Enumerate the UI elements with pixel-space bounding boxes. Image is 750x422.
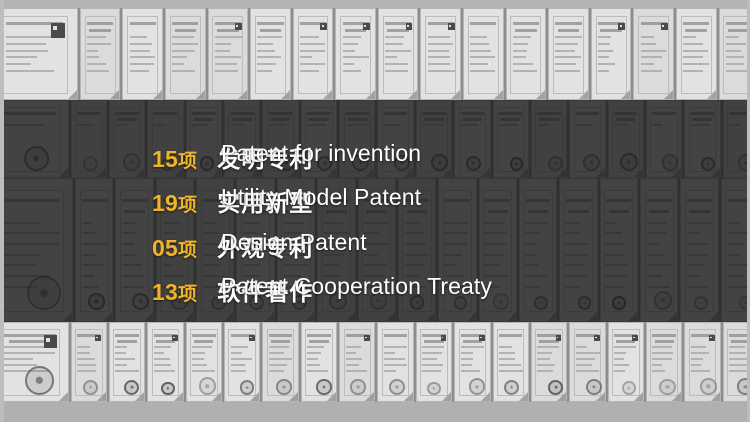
patent-count-value: 13 bbox=[152, 279, 178, 305]
patent-label-en: Patent for invention bbox=[221, 140, 421, 167]
patent-count-unit: 项 bbox=[178, 151, 197, 172]
patent-count: 13项 bbox=[152, 279, 197, 306]
patent-count-value: 19 bbox=[152, 190, 178, 216]
patent-count-unit: 项 bbox=[178, 240, 197, 261]
slide-canvas: 15项 发明专利 Patent for invention 19项 实用新型 U… bbox=[0, 0, 750, 422]
patent-count: 15项 bbox=[152, 146, 197, 173]
patent-stats-list: 15项 发明专利 Patent for invention 19项 实用新型 U… bbox=[0, 0, 750, 422]
patent-count-unit: 项 bbox=[178, 284, 197, 305]
patent-count: 05项 bbox=[152, 235, 197, 262]
image-border-bottom bbox=[0, 402, 750, 422]
patent-label-en: Utility Model Patent bbox=[221, 184, 421, 211]
patent-count-unit: 项 bbox=[178, 195, 197, 216]
image-border-top bbox=[0, 0, 750, 8]
patent-count: 19项 bbox=[152, 190, 197, 217]
image-border-left bbox=[0, 0, 4, 422]
patent-count-value: 05 bbox=[152, 235, 178, 261]
patent-count-value: 15 bbox=[152, 146, 178, 172]
patent-label-en: Patent Cooperation Treaty bbox=[221, 273, 492, 300]
patent-label-en: Design Patent bbox=[221, 229, 367, 256]
